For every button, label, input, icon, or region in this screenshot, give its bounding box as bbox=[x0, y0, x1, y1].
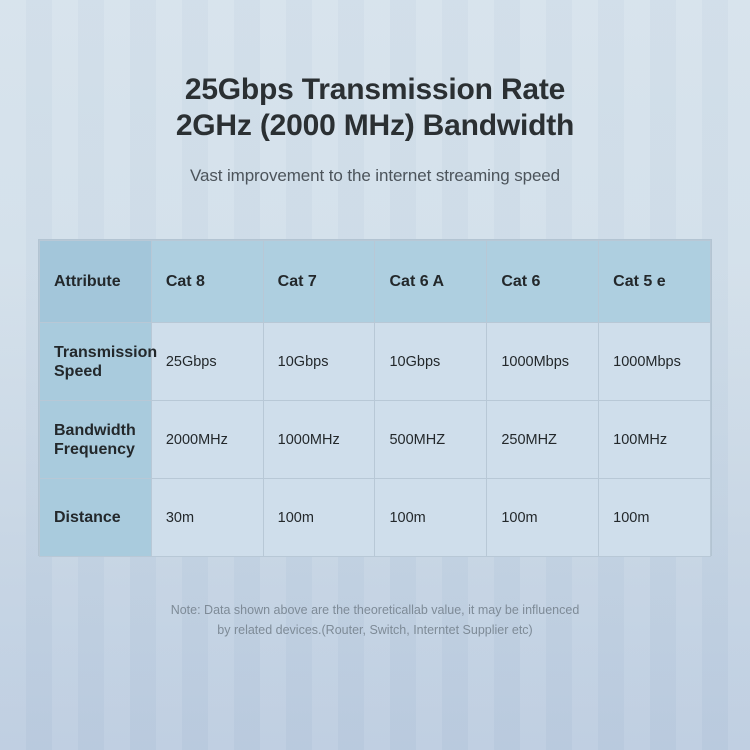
row-label-line-1: Transmission bbox=[54, 344, 157, 361]
row-label-line-2: Speed bbox=[54, 363, 102, 380]
cell-bandwidth-frequency-cat7: 1000MHz bbox=[263, 401, 375, 479]
page-subtitle: Vast improvement to the internet streami… bbox=[0, 166, 750, 186]
title-line-2: 2GHz (2000 MHz) Bandwidth bbox=[0, 108, 750, 144]
table-header-cat6a: Cat 6 A bbox=[375, 241, 487, 323]
table-header-cat5e: Cat 5 e bbox=[599, 241, 711, 323]
title-line-1: 25Gbps Transmission Rate bbox=[0, 72, 750, 108]
cell-distance-cat6a: 100m bbox=[375, 479, 487, 557]
row-label-line-1: Bandwidth bbox=[54, 422, 136, 439]
row-label-line-2: Frequency bbox=[54, 441, 135, 458]
cell-transmission-speed-cat7: 10Gbps bbox=[263, 323, 375, 401]
table-header-cat7: Cat 7 bbox=[263, 241, 375, 323]
footnote-line-2: by related devices.(Router, Switch, Inte… bbox=[0, 620, 750, 640]
cell-transmission-speed-cat6a: 10Gbps bbox=[375, 323, 487, 401]
table-header-attribute: Attribute bbox=[40, 241, 152, 323]
table-row: Transmission Speed 25Gbps 10Gbps 10Gbps … bbox=[40, 323, 711, 401]
table-row: Bandwidth Frequency 2000MHz 1000MHz 500M… bbox=[40, 401, 711, 479]
promo-panel: 25Gbps Transmission Rate 2GHz (2000 MHz)… bbox=[0, 0, 750, 750]
comparison-table: Attribute Cat 8 Cat 7 Cat 6 A Cat 6 Cat … bbox=[38, 239, 712, 556]
page-title: 25Gbps Transmission Rate 2GHz (2000 MHz)… bbox=[0, 72, 750, 144]
row-label-bandwidth-frequency: Bandwidth Frequency bbox=[40, 401, 152, 479]
footnote: Note: Data shown above are the theoretic… bbox=[0, 600, 750, 640]
cell-bandwidth-frequency-cat5e: 100MHz bbox=[599, 401, 711, 479]
cell-bandwidth-frequency-cat8: 2000MHz bbox=[151, 401, 263, 479]
row-label-distance: Distance bbox=[40, 479, 152, 557]
table-row: Distance 30m 100m 100m 100m 100m bbox=[40, 479, 711, 557]
table-header-row: Attribute Cat 8 Cat 7 Cat 6 A Cat 6 Cat … bbox=[40, 241, 711, 323]
table-header-cat8: Cat 8 bbox=[151, 241, 263, 323]
cell-transmission-speed-cat8: 25Gbps bbox=[151, 323, 263, 401]
cell-transmission-speed-cat5e: 1000Mbps bbox=[599, 323, 711, 401]
cell-transmission-speed-cat6: 1000Mbps bbox=[487, 323, 599, 401]
cell-bandwidth-frequency-cat6: 250MHZ bbox=[487, 401, 599, 479]
footnote-line-1: Note: Data shown above are the theoretic… bbox=[0, 600, 750, 620]
cell-bandwidth-frequency-cat6a: 500MHZ bbox=[375, 401, 487, 479]
row-label-transmission-speed: Transmission Speed bbox=[40, 323, 152, 401]
table-header-cat6: Cat 6 bbox=[487, 241, 599, 323]
cell-distance-cat5e: 100m bbox=[599, 479, 711, 557]
cell-distance-cat6: 100m bbox=[487, 479, 599, 557]
cell-distance-cat7: 100m bbox=[263, 479, 375, 557]
cell-distance-cat8: 30m bbox=[151, 479, 263, 557]
